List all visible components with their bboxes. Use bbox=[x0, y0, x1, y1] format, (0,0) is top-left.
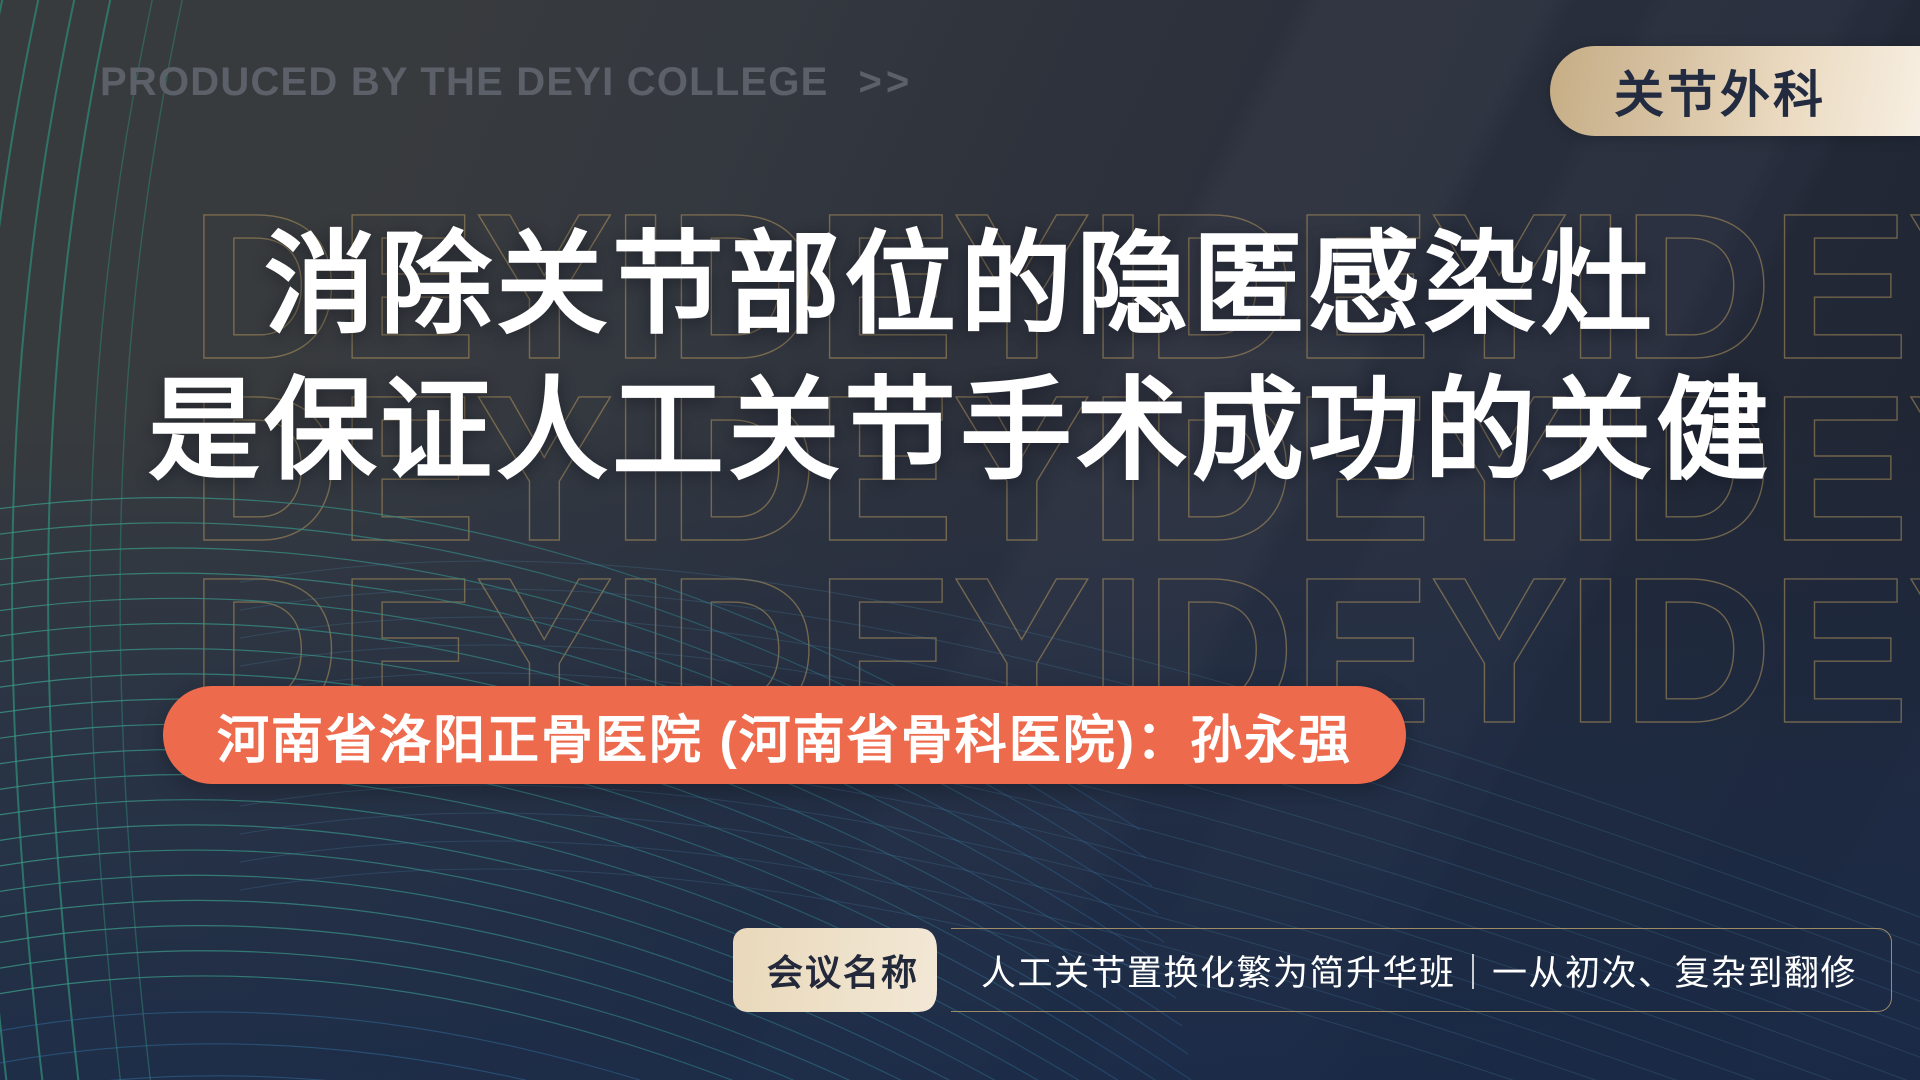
chevron-right-double-icon: >> bbox=[859, 60, 914, 105]
speaker-affiliation-pill: 河南省洛阳正骨医院 (河南省骨科医院)：孙永强 bbox=[163, 686, 1406, 784]
conference-name-value: 人工关节置换化繁为简升华班｜一从初次、复杂到翻修 bbox=[981, 945, 1857, 996]
poster-canvas: DEYIDEYIDEYIDEYI DEYIDEYIDEYIDEYI DEYIDE… bbox=[0, 0, 1920, 1080]
producer-label: PRODUCED BY THE DEYI COLLEGE >> bbox=[100, 60, 913, 105]
page-title: 消除关节部位的隐匿感染灶 是保证人工关节手术成功的关健 bbox=[0, 212, 1920, 504]
conference-name-bar: 会议名称 人工关节置换化繁为简升华班｜一从初次、复杂到翻修 bbox=[733, 928, 1892, 1012]
conference-name-value-box: 人工关节置换化繁为简升华班｜一从初次、复杂到翻修 bbox=[951, 928, 1892, 1012]
department-badge: 关节外科 bbox=[1550, 46, 1920, 136]
speaker-affiliation-text: 河南省洛阳正骨医院 (河南省骨科医院)：孙永强 bbox=[217, 698, 1352, 773]
department-badge-label: 关节外科 bbox=[1614, 55, 1826, 127]
page-title-line-2: 是保证人工关节手术成功的关健 bbox=[0, 358, 1920, 504]
page-title-line-1: 消除关节部位的隐匿感染灶 bbox=[0, 212, 1920, 358]
conference-name-tag: 会议名称 bbox=[733, 928, 955, 1012]
producer-label-text: PRODUCED BY THE DEYI COLLEGE bbox=[100, 60, 829, 105]
conference-name-tag-label: 会议名称 bbox=[767, 944, 919, 996]
